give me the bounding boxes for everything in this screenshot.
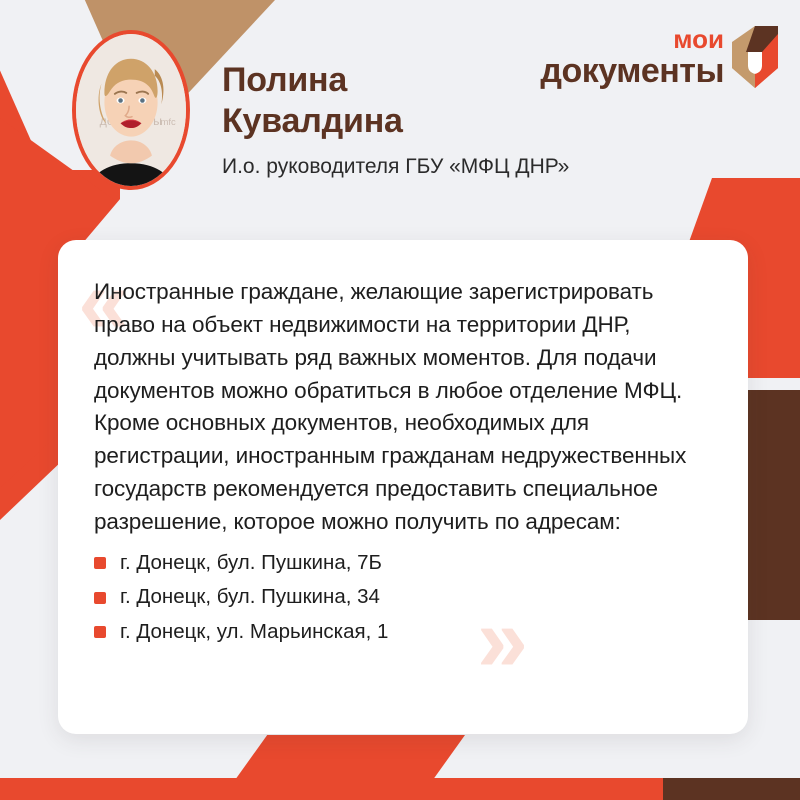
mfc-logo: мои документы [540, 26, 778, 88]
bottom-bar-brown-segment [663, 778, 800, 800]
person-info: Полина Кувалдина И.о. руководителя ГБУ «… [222, 60, 522, 179]
person-name-line2: Кувалдина [222, 101, 522, 142]
avatar-portrait-icon: документы mfc [76, 34, 186, 186]
bottom-bar-orange-segment [0, 778, 663, 800]
list-item: г. Донецк, ул. Марьинская, 1 [94, 622, 706, 643]
statement-card: « » Иностранные граждане, желающие зарег… [58, 240, 748, 734]
bottom-orange-parallelogram-decoration [235, 735, 465, 780]
mfc-logo-line-bottom: документы [540, 54, 724, 88]
bottom-bar [0, 778, 800, 800]
bullet-square-icon [94, 557, 106, 569]
svg-text:mfc: mfc [160, 117, 176, 128]
address-text: г. Донецк, бул. Пушкина, 7Б [120, 553, 382, 574]
person-name-line1: Полина [222, 60, 522, 101]
address-list: г. Донецк, бул. Пушкина, 7Б г. Донецк, б… [94, 553, 706, 643]
bullet-square-icon [94, 626, 106, 638]
mfc-shield-icon [732, 26, 778, 88]
avatar: документы mfc [72, 30, 190, 190]
bullet-square-icon [94, 592, 106, 604]
statement-paragraph: Иностранные граждане, желающие зарегистр… [94, 276, 706, 539]
statement-text: Иностранные граждане, желающие зарегистр… [94, 276, 706, 539]
mfc-logo-wordmark: мои документы [540, 26, 724, 88]
address-text: г. Донецк, бул. Пушкина, 34 [120, 587, 380, 608]
address-text: г. Донецк, ул. Марьинская, 1 [120, 622, 388, 643]
infographic-canvas: документы mfc Полина Кувалдина И.о. руко… [0, 0, 800, 800]
list-item: г. Донецк, бул. Пушкина, 7Б [94, 553, 706, 574]
list-item: г. Донецк, бул. Пушкина, 34 [94, 587, 706, 608]
mfc-logo-line-top: мои [673, 26, 724, 52]
person-role: И.о. руководителя ГБУ «МФЦ ДНР» [222, 155, 522, 179]
